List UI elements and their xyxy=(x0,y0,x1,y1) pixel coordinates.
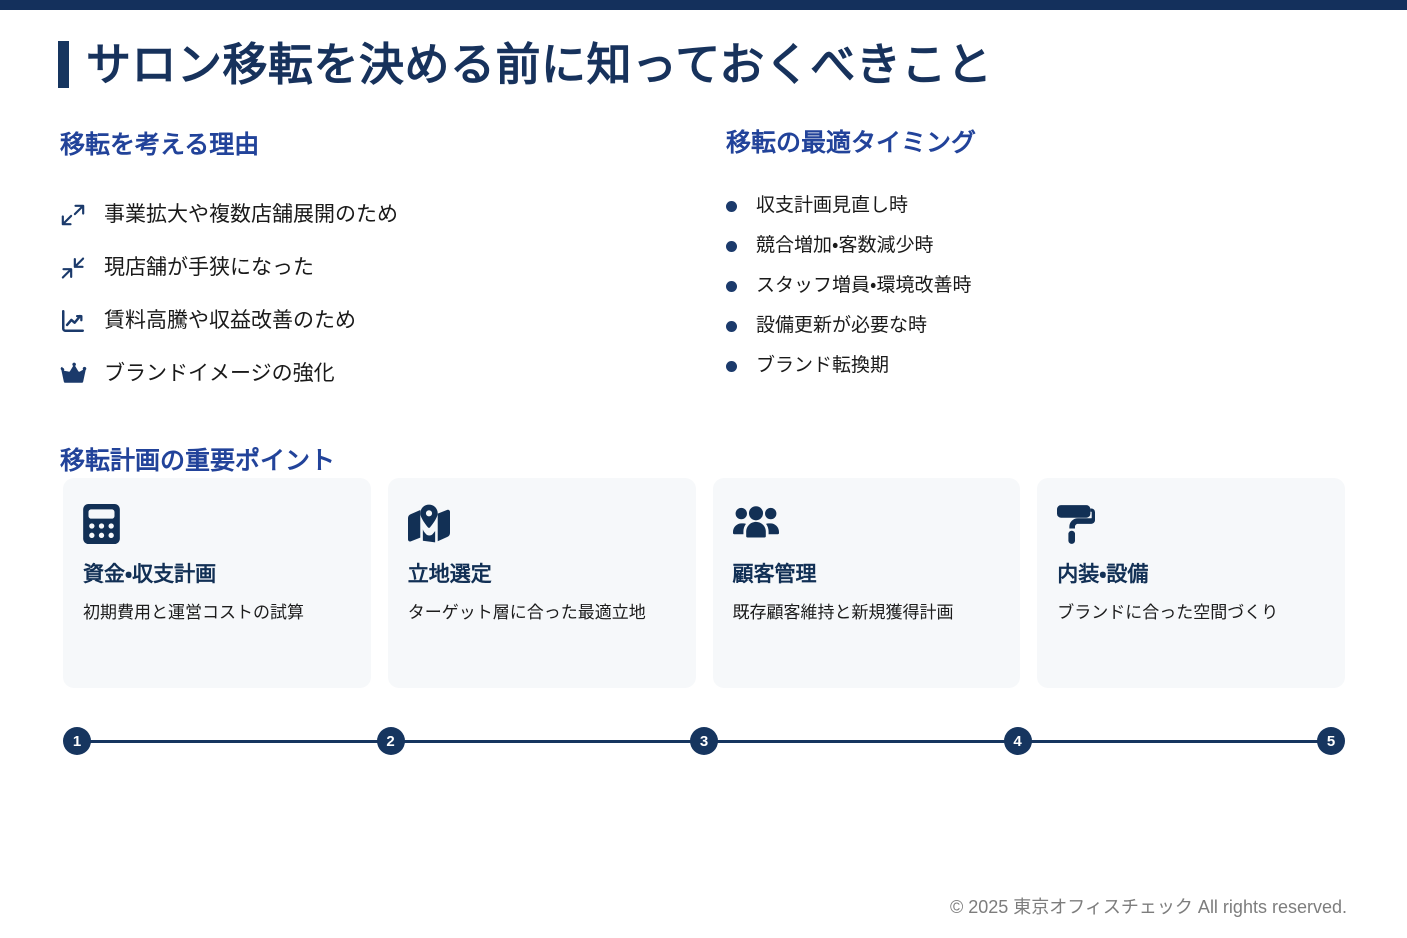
reasons-section: 移転を考える理由 事業拡大や複数店舗展開のため 現店舗が手狭になった xyxy=(60,130,700,400)
users-group-icon xyxy=(733,504,1001,544)
card-title: 顧客管理 xyxy=(733,562,1001,587)
point-card-customers[interactable]: 顧客管理 既存顧客維持と新規獲得計画 xyxy=(713,478,1021,688)
page-title: サロン移転を決める前に知っておくべきこと xyxy=(86,42,992,87)
list-item: ブランド転換期 xyxy=(726,346,1346,386)
step-nodes: 1 2 3 4 5 xyxy=(63,727,1345,755)
card-title: 内装・設備 xyxy=(1057,562,1325,587)
list-item: 事業拡大や複数店舗展開のため xyxy=(60,188,700,241)
bullet-dot-icon xyxy=(726,281,737,292)
point-card-funding[interactable]: 資金・収支計画 初期費用と運営コストの試算 xyxy=(63,478,371,688)
compress-arrows-icon xyxy=(60,255,90,281)
map-location-icon xyxy=(408,504,676,544)
points-card-grid: 資金・収支計画 初期費用と運営コストの試算 立地選定 ターゲット層に合った最適立… xyxy=(63,478,1345,688)
card-description: ブランドに合った空間づくり xyxy=(1057,600,1325,626)
page-title-row: サロン移転を決める前に知っておくべきこと xyxy=(58,34,992,94)
list-item-label: ブランド転換期 xyxy=(756,354,889,379)
list-item: 設備更新が必要な時 xyxy=(726,306,1346,346)
title-accent-mark xyxy=(58,41,69,88)
paint-roller-icon xyxy=(1057,504,1325,544)
bullet-dot-icon xyxy=(726,201,737,212)
timing-list: 収支計画見直し時 競合増加・客数減少時 スタッフ増員・環境改善時 設備更新が必要… xyxy=(726,186,1346,386)
reasons-heading: 移転を考える理由 xyxy=(60,130,700,160)
bullet-dot-icon xyxy=(726,361,737,372)
list-item-label: 事業拡大や複数店舗展開のため xyxy=(104,201,398,228)
list-item: ブランドイメージの強化 xyxy=(60,347,700,400)
list-item-label: ブランドイメージの強化 xyxy=(104,360,335,387)
list-item-label: 設備更新が必要な時 xyxy=(756,314,927,339)
list-item: 収支計画見直し時 xyxy=(726,186,1346,226)
crown-icon xyxy=(60,361,90,387)
list-item: スタッフ増員・環境改善時 xyxy=(726,266,1346,306)
list-item-label: 収支計画見直し時 xyxy=(756,194,908,219)
step-node-1[interactable]: 1 xyxy=(63,727,91,755)
calculator-icon xyxy=(83,504,351,544)
step-node-4[interactable]: 4 xyxy=(1004,727,1032,755)
step-node-2[interactable]: 2 xyxy=(377,727,405,755)
points-heading: 移転計画の重要ポイント xyxy=(60,446,335,476)
reasons-list: 事業拡大や複数店舗展開のため 現店舗が手狭になった 賃料高騰や収益改善のため xyxy=(60,188,700,400)
step-indicator: 1 2 3 4 5 xyxy=(63,727,1345,755)
list-item: 競合増加・客数減少時 xyxy=(726,226,1346,266)
card-description: 既存顧客維持と新規獲得計画 xyxy=(733,600,1001,626)
step-node-3[interactable]: 3 xyxy=(690,727,718,755)
list-item-label: 賃料高騰や収益改善のため xyxy=(104,307,356,334)
card-description: 初期費用と運営コストの試算 xyxy=(83,600,351,626)
top-accent-bar xyxy=(0,0,1407,10)
card-title: 立地選定 xyxy=(408,562,676,587)
list-item-label: 現店舗が手狭になった xyxy=(104,254,314,281)
card-description: ターゲット層に合った最適立地 xyxy=(408,600,676,626)
expand-arrows-icon xyxy=(60,202,90,228)
timing-section: 移転の最適タイミング 収支計画見直し時 競合増加・客数減少時 スタッフ増員・環境… xyxy=(726,128,1346,386)
list-item: 賃料高騰や収益改善のため xyxy=(60,294,700,347)
list-item-label: 競合増加・客数減少時 xyxy=(756,234,933,259)
bullet-dot-icon xyxy=(726,321,737,332)
point-card-interior[interactable]: 内装・設備 ブランドに合った空間づくり xyxy=(1037,478,1345,688)
list-item: 現店舗が手狭になった xyxy=(60,241,700,294)
footer-copyright: © 2025 東京オフィスチェック All rights reserved. xyxy=(950,893,1347,919)
point-card-location[interactable]: 立地選定 ターゲット層に合った最適立地 xyxy=(388,478,696,688)
list-item-label: スタッフ増員・環境改善時 xyxy=(756,274,971,299)
timing-heading: 移転の最適タイミング xyxy=(726,128,1346,158)
card-title: 資金・収支計画 xyxy=(83,562,351,587)
chart-line-icon xyxy=(60,308,90,334)
step-node-5[interactable]: 5 xyxy=(1317,727,1345,755)
bullet-dot-icon xyxy=(726,241,737,252)
